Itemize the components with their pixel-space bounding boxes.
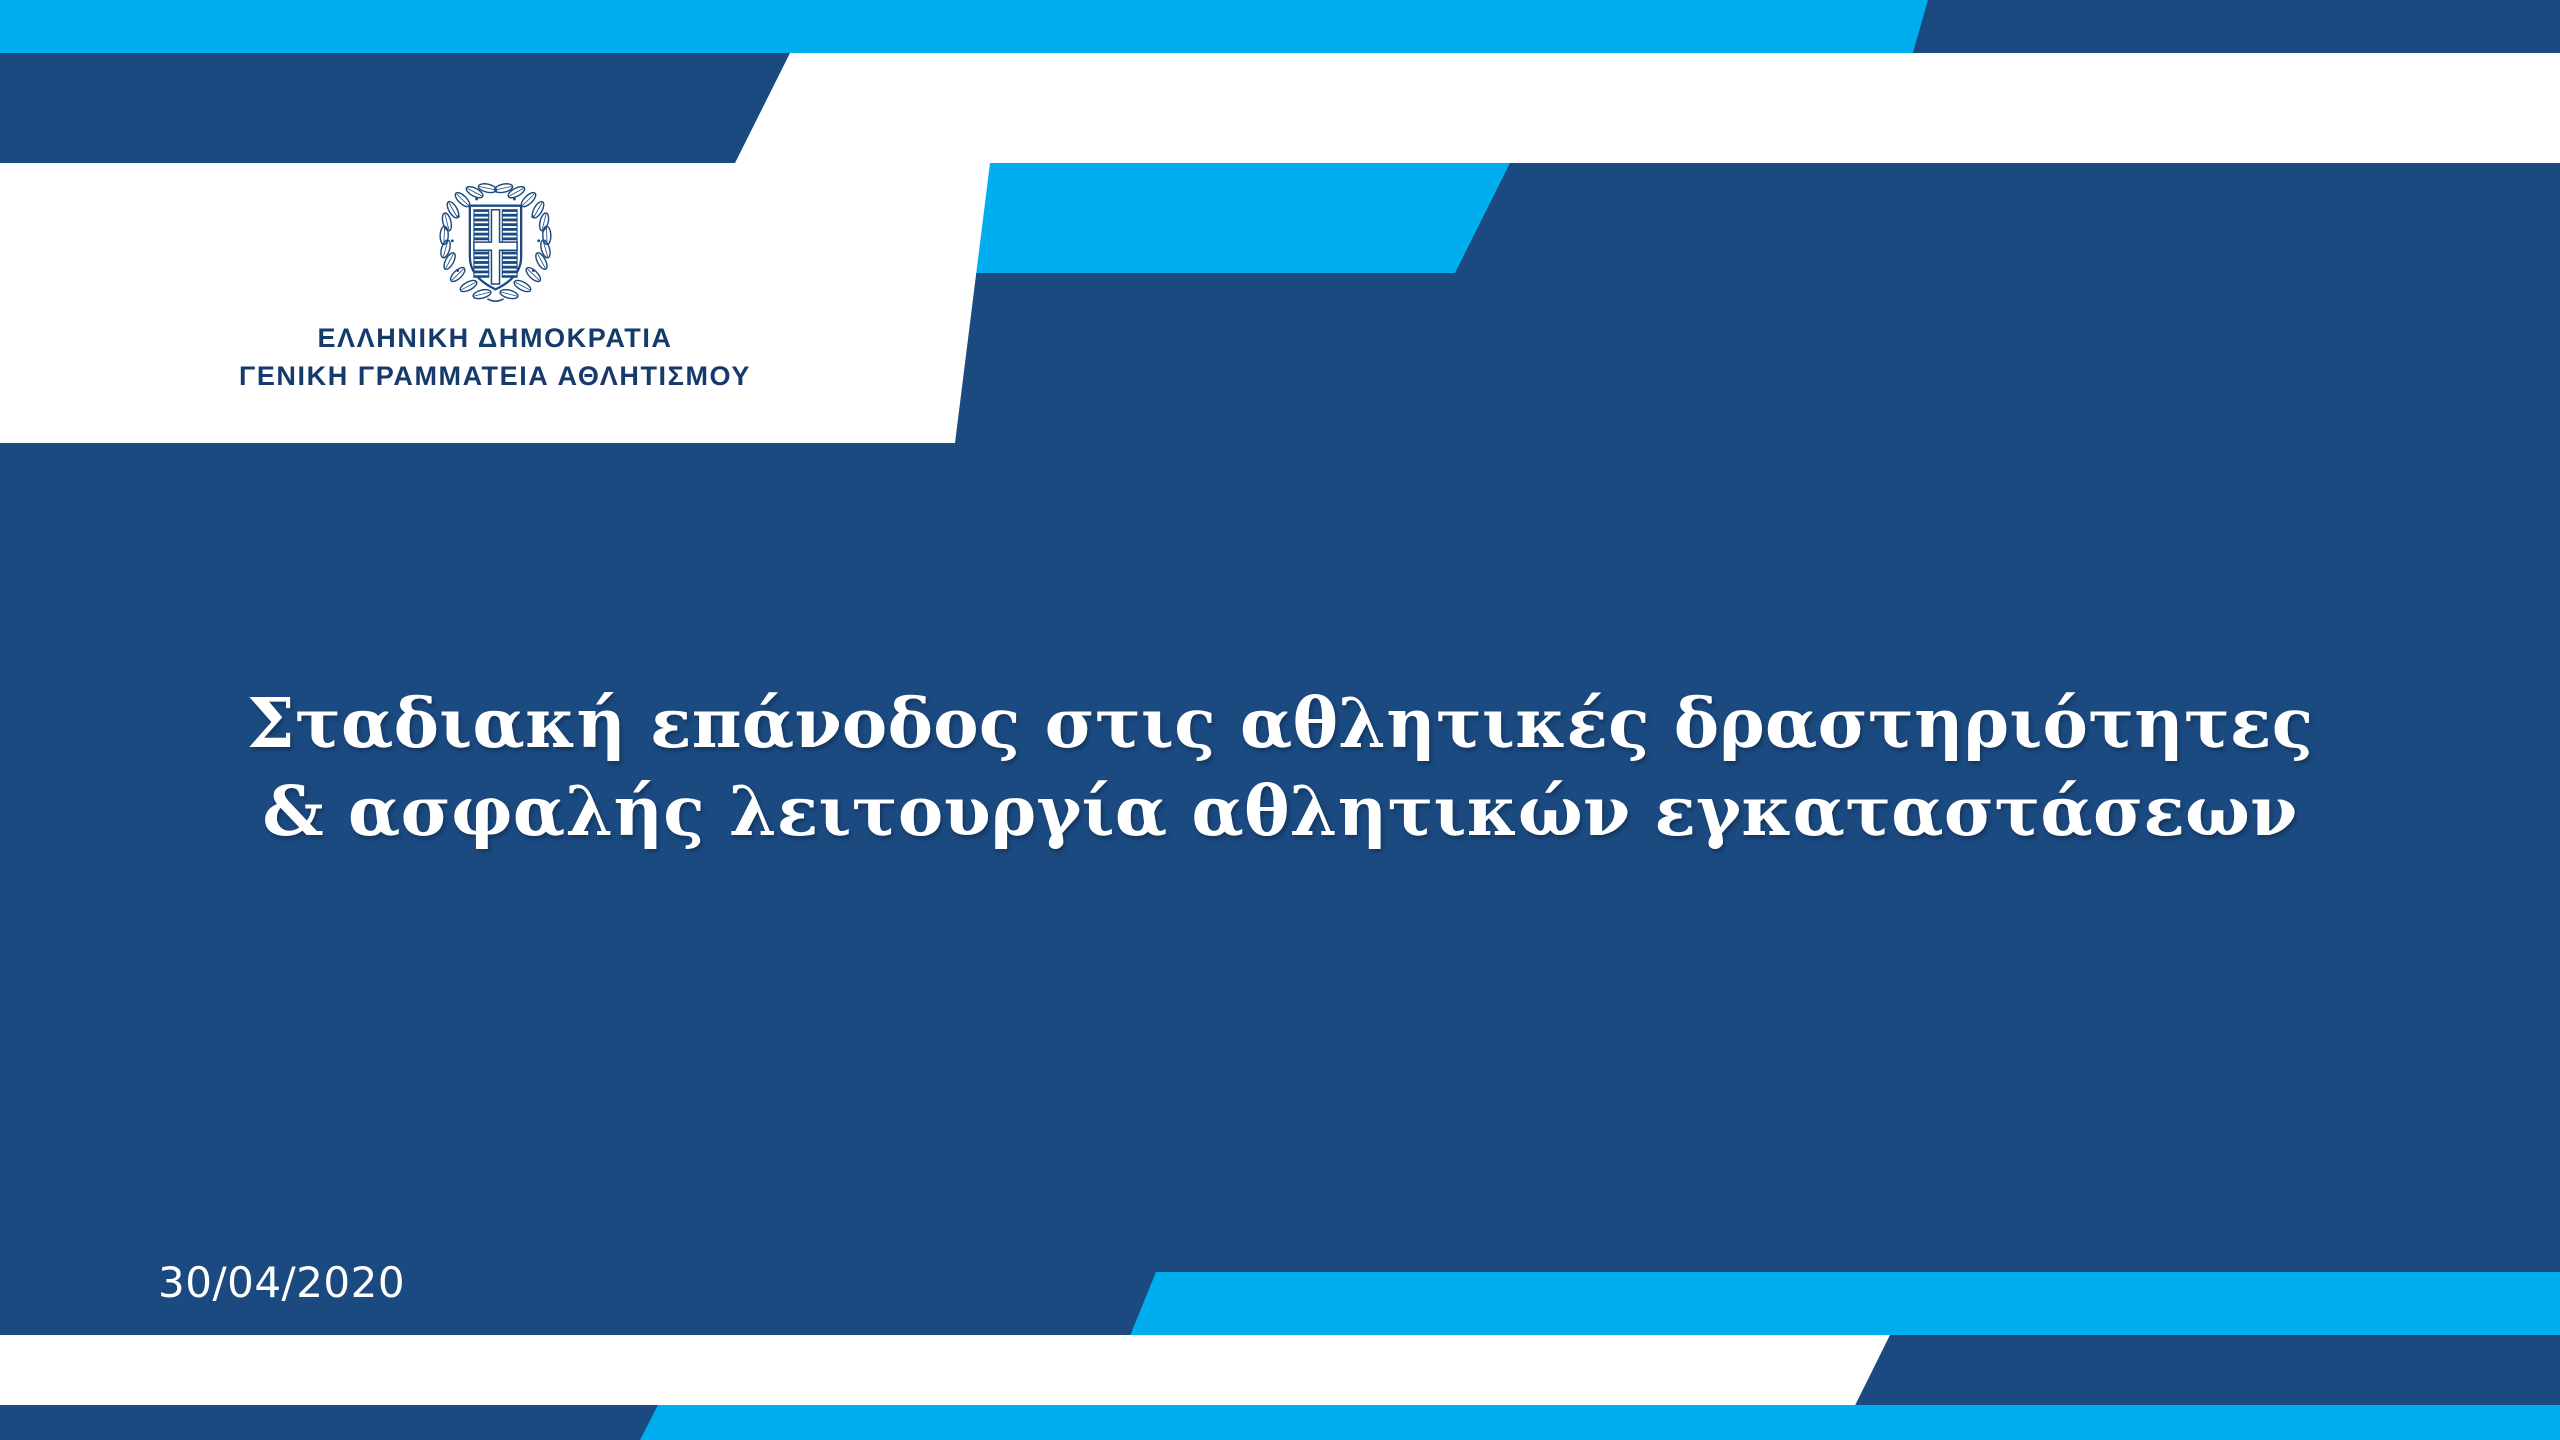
bottom-band-cyan [640,1405,2560,1440]
top-band-navy [0,53,790,163]
organisation-name-line-1: ΕΛΛΗΝΙΚΗ ΔΗΜΟΚΡΑΤΙΑ [239,319,751,357]
slide-title: Σταδιακή επάνοδος στις αθλητικές δραστηρ… [0,680,2560,857]
organisation-name-line-2: ΓΕΝΙΚΗ ΓΡΑΜΜΑΤΕΙΑ ΑΘΛΗΤΙΣΜΟΥ [239,357,751,395]
logo-text-block: ΕΛΛΗΝΙΚΗ ΔΗΜΟΚΡΑΤΙΑ ΓΕΝΙΚΗ ΓΡΑΜΜΑΤΕΙΑ ΑΘ… [239,319,751,396]
bottom-right-cyan-slab [1110,1272,2560,1385]
slide-date: 30/04/2020 [158,1258,405,1307]
bottom-right-navy-band [1838,1335,2560,1440]
top-right-navy-notch [1455,163,2560,273]
slide-title-line-1: Σταδιακή επάνοδος στις αθλητικές δραστηρ… [0,680,2560,768]
greek-coat-of-arms-emblem-icon [428,176,563,311]
logo-panel: ΕΛΛΗΝΙΚΗ ΔΗΜΟΚΡΑΤΙΑ ΓΕΝΙΚΗ ΓΡΑΜΜΑΤΕΙΑ ΑΘ… [0,163,990,443]
top-band-white [735,53,2560,163]
top-band-cyan-upper [0,0,2560,53]
slide-title-line-2: & ασφαλής λειτουργία αθλητικών εγκαταστά… [0,768,2560,856]
top-right-navy-slab [1880,0,2560,168]
presentation-title-slide: ΕΛΛΗΝΙΚΗ ΔΗΜΟΚΡΑΤΙΑ ΓΕΝΙΚΗ ΓΡΑΜΜΑΤΕΙΑ ΑΘ… [0,0,2560,1440]
bottom-left-navy-corner [0,1405,700,1440]
bottom-band-white [0,1335,1890,1440]
